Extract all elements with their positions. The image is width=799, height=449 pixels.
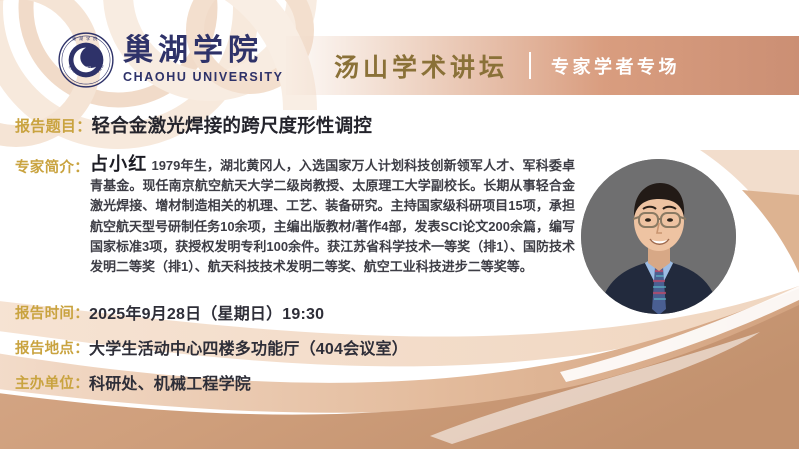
lecture-time-row: 报告时间： 2025年9月28日（星期日）19:30	[15, 300, 324, 324]
lecture-place-value: 大学生活动中心四楼多功能厅（404会议室）	[89, 335, 408, 359]
speaker-bio-row: 专家简介： 占小红1979年生，湖北黄冈人，入选国家万人计划科技创新领军人才、军…	[15, 154, 575, 277]
lecture-place-label: 报告地点：	[15, 335, 89, 358]
banner-sub-title: 专家学者专场	[551, 53, 680, 79]
lecture-title-label: 报告题目：	[15, 112, 92, 136]
speaker-portrait	[581, 159, 736, 314]
university-logo-block: 1977 巢湖学院 CHAOHU UNIVERSITY 巢湖学院 CHAOHU …	[58, 32, 284, 88]
lecture-host-label: 主办单位：	[15, 370, 89, 393]
lecture-series-banner: 汤山学术讲坛 专家学者专场	[286, 36, 799, 95]
university-name-cn: 巢湖学院	[123, 36, 284, 66]
svg-text:1977: 1977	[81, 65, 91, 70]
university-seal-icon: 1977 巢湖学院 CHAOHU UNIVERSITY	[58, 32, 114, 88]
lecture-time-label: 报告时间：	[15, 300, 89, 323]
speaker-bio-body: 占小红1979年生，湖北黄冈人，入选国家万人计划科技创新领军人才、军科委卓青基金…	[90, 154, 575, 277]
poster-canvas: 1977 巢湖学院 CHAOHU UNIVERSITY 巢湖学院 CHAOHU …	[0, 0, 799, 449]
svg-text:巢湖学院: 巢湖学院	[72, 35, 100, 42]
lecture-place-row: 报告地点： 大学生活动中心四楼多功能厅（404会议室）	[15, 335, 408, 359]
speaker-name: 占小红	[90, 154, 147, 174]
speaker-portrait-image	[581, 159, 736, 314]
lecture-time-value: 2025年9月28日（星期日）19:30	[89, 300, 324, 324]
poster-header: 1977 巢湖学院 CHAOHU UNIVERSITY 巢湖学院 CHAOHU …	[0, 0, 799, 108]
speaker-bio-label: 专家简介：	[15, 154, 89, 177]
university-name-en: CHAOHU UNIVERSITY	[123, 71, 284, 84]
banner-main-title: 汤山学术讲坛	[334, 48, 508, 84]
lecture-title-value: 轻合金激光焊接的跨尺度形性调控	[92, 112, 373, 138]
lecture-title-row: 报告题目： 轻合金激光焊接的跨尺度形性调控	[15, 112, 372, 138]
speaker-bio-text: 1979年生，湖北黄冈人，入选国家万人计划科技创新领军人才、军科委卓青基金。现任…	[90, 158, 575, 274]
lecture-host-value: 科研处、机械工程学院	[89, 370, 251, 394]
banner-divider	[529, 52, 531, 79]
lecture-host-row: 主办单位： 科研处、机械工程学院	[15, 370, 251, 394]
